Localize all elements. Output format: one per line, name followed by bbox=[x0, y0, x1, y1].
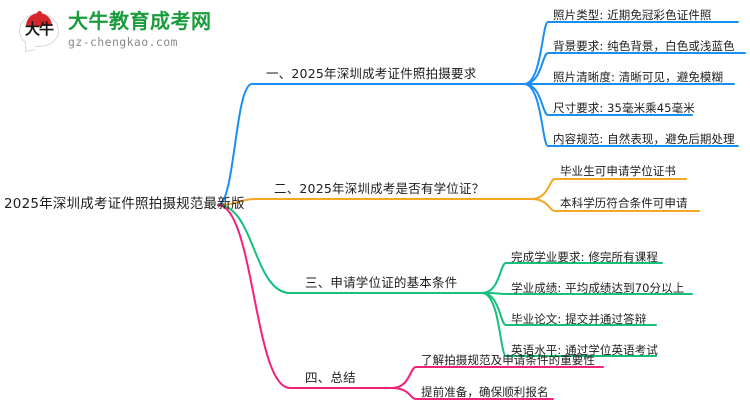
mindmap-leaf-node[interactable]: 内容规范: 自然表现，避免后期处理 bbox=[553, 132, 735, 147]
mindmap-leaf-node[interactable]: 背景要求: 纯色背景，白色或浅蓝色 bbox=[553, 39, 735, 54]
mindmap-leaf-node[interactable]: 毕业生可申请学位证书 bbox=[560, 164, 676, 179]
mindmap-leaf-node[interactable]: 了解拍摄规范及申请条件的重要性 bbox=[421, 353, 595, 368]
mindmap-branch-node-1[interactable]: 一、2025年深圳成考证件照拍摄要求 bbox=[266, 66, 476, 82]
mindmap-leaf-node[interactable]: 提前准备，确保顺利报名 bbox=[421, 385, 549, 400]
mindmap-leaf-node[interactable]: 本科学历符合条件可申请 bbox=[560, 196, 688, 211]
mindmap-branch-node-2[interactable]: 二、2025年深圳成考是否有学位证？ bbox=[274, 181, 484, 197]
mindmap-root-node[interactable]: 2025年深圳成考证件照拍摄规范最新版 bbox=[4, 196, 245, 213]
mindmap-leaf-node[interactable]: 尺寸要求: 35毫米乘45毫米 bbox=[553, 101, 695, 116]
mindmap-leaf-node[interactable]: 毕业论文: 提交并通过答辩 bbox=[511, 312, 646, 327]
mindmap-leaf-node[interactable]: 照片清晰度: 清晰可见，避免模糊 bbox=[553, 70, 723, 85]
mindmap-connector bbox=[218, 199, 517, 205]
mindmap-branch-node-4[interactable]: 四、总结 bbox=[305, 370, 356, 386]
mindmap-branch-node-3[interactable]: 三、申请学位证的基本条件 bbox=[305, 275, 457, 291]
mindmap-leaf-node[interactable]: 学业成绩: 平均成绩达到70分以上 bbox=[511, 281, 684, 296]
mindmap-connector bbox=[218, 205, 378, 388]
mindmap-leaf-node[interactable]: 照片类型: 近期免冠彩色证件照 bbox=[553, 8, 712, 23]
mindmap-leaf-node[interactable]: 完成学业要求: 修完所有课程 bbox=[511, 250, 658, 265]
